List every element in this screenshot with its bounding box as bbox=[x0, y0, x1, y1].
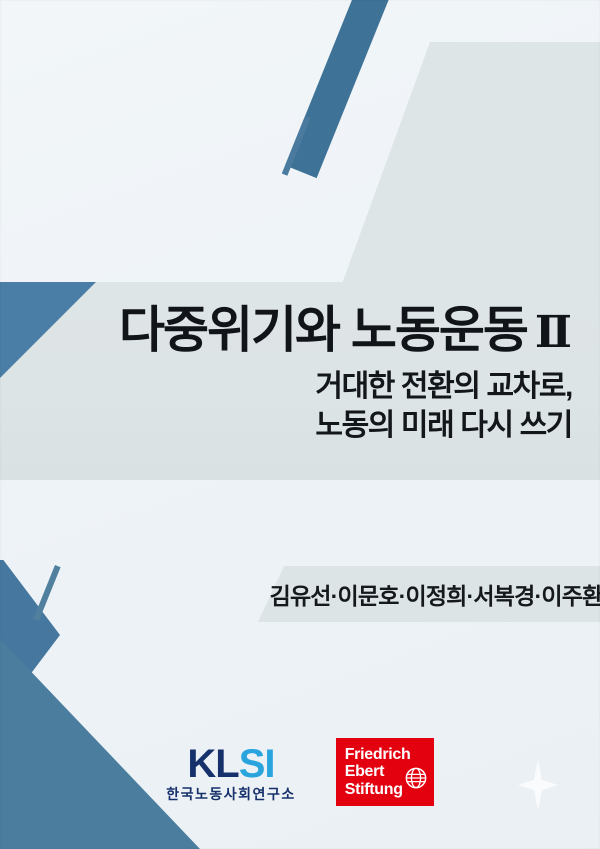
subtitle-line-1: 거대한 전환의 교차로, bbox=[315, 367, 572, 406]
klsi-acronym: KLSI bbox=[187, 744, 274, 784]
subtitle-line-2: 노동의 미래 다시 쓰기 bbox=[315, 406, 572, 445]
publisher-logos: KLSI 한국노동사회연구소 Friedrich Ebert Stiftung bbox=[0, 726, 600, 818]
book-cover: 다중위기와 노동운동Ⅱ 거대한 전환의 교차로, 노동의 미래 다시 쓰기 김유… bbox=[0, 0, 600, 849]
klsi-acronym-dark: KL bbox=[187, 742, 238, 786]
volume-numeral: Ⅱ bbox=[535, 307, 572, 358]
klsi-acronym-light: SI bbox=[239, 742, 275, 786]
main-title-text: 다중위기와 노동운동 bbox=[119, 302, 527, 358]
page-title: 다중위기와 노동운동Ⅱ bbox=[119, 304, 572, 357]
authors-list: 김유선·이문호·이정희·서복경·이주환 bbox=[258, 566, 600, 622]
fes-logo: Friedrich Ebert Stiftung bbox=[336, 738, 434, 806]
globe-icon bbox=[405, 767, 427, 789]
fes-line-1: Friedrich bbox=[345, 746, 434, 763]
subtitle-block: 거대한 전환의 교차로, 노동의 미래 다시 쓰기 bbox=[315, 367, 572, 445]
klsi-korean-name: 한국노동사회연구소 bbox=[166, 787, 295, 801]
title-block: 다중위기와 노동운동Ⅱ 거대한 전환의 교차로, 노동의 미래 다시 쓰기 bbox=[0, 282, 600, 480]
klsi-logo: KLSI 한국노동사회연구소 bbox=[166, 744, 295, 801]
